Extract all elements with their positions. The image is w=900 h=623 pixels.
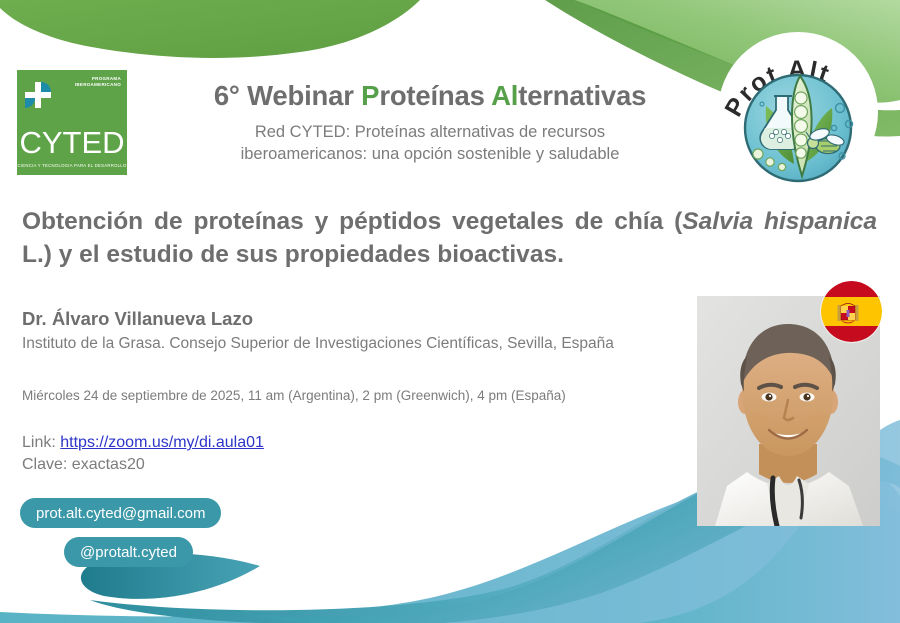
page-title: 6° Webinar Proteínas Alternativas — [140, 80, 720, 112]
spain-flag-icon — [821, 281, 882, 342]
title-green-p: P — [361, 80, 379, 111]
prot-alt-logo: Prot Alt — [722, 36, 874, 188]
page-subtitle: Red CYTED: Proteínas alternativas de rec… — [150, 122, 710, 166]
title-segment-1: 6° Webinar — [214, 80, 361, 111]
title-segment-2: roteínas — [379, 80, 491, 111]
event-datetime: Miércoles 24 de septiembre de 2025, 11 a… — [22, 388, 692, 403]
speaker-name: Dr. Álvaro Villanueva Lazo — [22, 308, 253, 330]
contact-email-badge[interactable]: prot.alt.cyted@gmail.com — [20, 498, 221, 528]
talk-title: Obtención de proteínas y péptidos vegeta… — [22, 206, 877, 272]
clave-label: Clave: — [22, 456, 72, 473]
talk-title-species: Salvia hispanica — [682, 208, 877, 235]
speaker-affiliation: Instituto de la Grasa. Consejo Superior … — [22, 333, 682, 355]
contact-social-badge[interactable]: @protalt.cyted — [64, 537, 193, 567]
title-green-al: Al — [491, 80, 518, 111]
access-password-row: Clave: exactas20 — [22, 456, 145, 474]
cyted-programa-label: PROGRAMA IBEROAMERICANO — [75, 76, 121, 88]
talk-title-pre: Obtención de proteínas y péptidos vegeta… — [22, 208, 682, 235]
cyted-logo: PROGRAMA IBEROAMERICANO CYTED CIENCIA Y … — [17, 70, 127, 175]
title-segment-3: ternativas — [518, 80, 646, 111]
subtitle-line-2: iberoamericanos: una opción sostenible y… — [150, 144, 710, 166]
zoom-link-row: Link: https://zoom.us/my/di.aula01 — [22, 434, 264, 452]
zoom-link[interactable]: https://zoom.us/my/di.aula01 — [60, 434, 264, 451]
cyted-programa-line2: IBEROAMERICANO — [75, 82, 121, 88]
cyted-wordmark: CYTED — [17, 127, 127, 158]
link-label: Link: — [22, 434, 60, 451]
clave-value: exactas20 — [72, 456, 145, 473]
talk-title-post: L.) y el estudio de sus propiedades bioa… — [22, 241, 564, 268]
subtitle-line-1: Red CYTED: Proteínas alternativas de rec… — [150, 122, 710, 144]
webinar-poster: PROGRAMA IBEROAMERICANO CYTED CIENCIA Y … — [0, 0, 900, 623]
cyted-cross-icon — [25, 82, 51, 108]
cyted-tagline: CIENCIA Y TECNOLOGIA PARA EL DESARROLLO — [17, 163, 127, 168]
